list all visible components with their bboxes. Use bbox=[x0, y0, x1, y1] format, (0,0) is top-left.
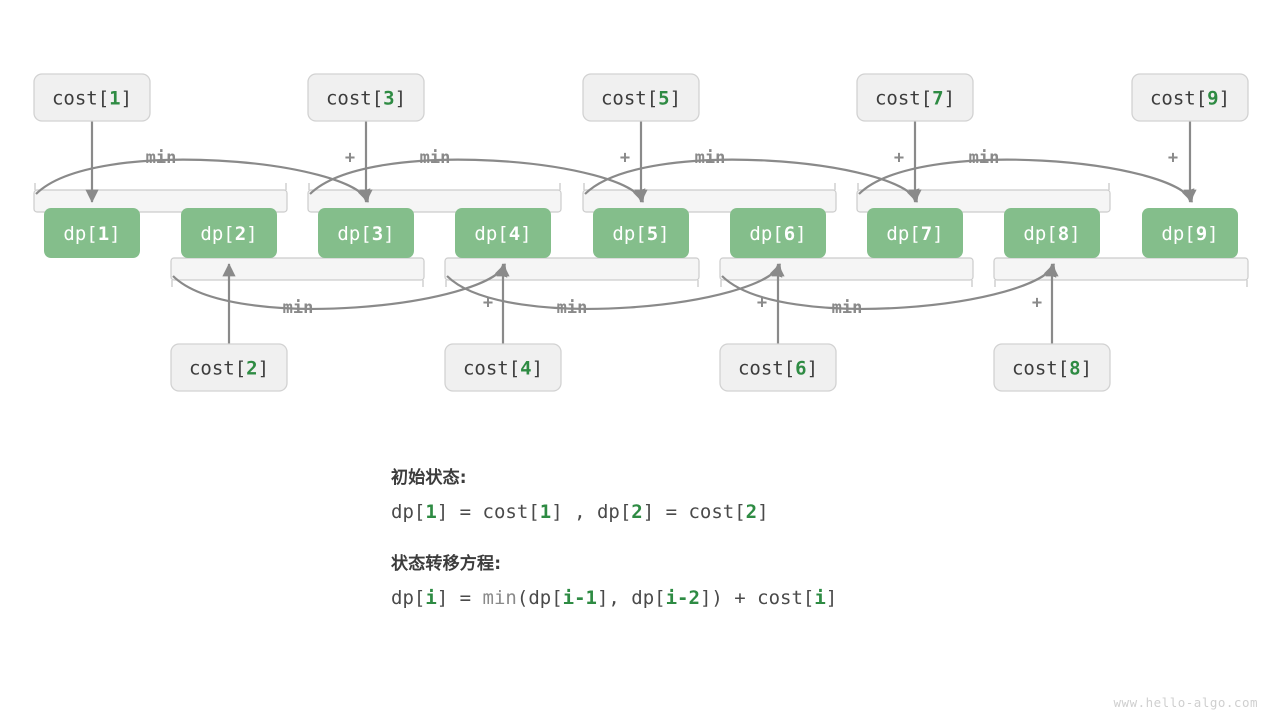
cost-box-4: cost[4] bbox=[445, 344, 561, 391]
op-label-min-top-0: min bbox=[146, 148, 177, 168]
initial-state-heading: 初始状态: bbox=[391, 463, 1091, 488]
op-label-plus-bottom-0: + bbox=[483, 293, 493, 313]
initial-state-formula: dp[1] = cost[1] , dp[2] = cost[2] bbox=[391, 501, 1091, 523]
dp-cell-6: dp[6] bbox=[730, 208, 826, 258]
cost-box-label: cost[3] bbox=[326, 88, 406, 110]
dp-cell-label: dp[8] bbox=[1023, 223, 1080, 245]
dp-cell-layer: dp[1]dp[2]dp[3]dp[4]dp[5]dp[6]dp[7]dp[8]… bbox=[44, 208, 1238, 258]
cost-box-label: cost[2] bbox=[189, 358, 269, 380]
dp-cell-2: dp[2] bbox=[181, 208, 277, 258]
bracket-top-2 bbox=[583, 183, 836, 212]
dp-cell-9: dp[9] bbox=[1142, 208, 1238, 258]
transition-heading: 状态转移方程: bbox=[391, 549, 1091, 574]
bracket-top-3 bbox=[857, 183, 1110, 212]
op-label-plus-top-0: + bbox=[345, 148, 355, 168]
watermark: www.hello-algo.com bbox=[1114, 695, 1258, 710]
dp-cell-3: dp[3] bbox=[318, 208, 414, 258]
op-label-min-top-3: min bbox=[969, 148, 1000, 168]
op-label-plus-top-1: + bbox=[620, 148, 630, 168]
dp-cell-1: dp[1] bbox=[44, 208, 140, 258]
dp-cell-label: dp[7] bbox=[886, 223, 943, 245]
bracket-top-0 bbox=[34, 183, 287, 212]
cost-box-label: cost[1] bbox=[52, 88, 132, 110]
dp-cell-label: dp[4] bbox=[474, 223, 531, 245]
cost-box-label: cost[6] bbox=[738, 358, 818, 380]
op-label-plus-top-3: + bbox=[1168, 148, 1178, 168]
dp-cell-label: dp[3] bbox=[337, 223, 394, 245]
op-label-plus-bottom-1: + bbox=[757, 293, 767, 313]
cost-box-9: cost[9] bbox=[1132, 74, 1248, 121]
cost-box-1: cost[1] bbox=[34, 74, 150, 121]
dp-cell-label: dp[2] bbox=[200, 223, 257, 245]
cost-box-label: cost[8] bbox=[1012, 358, 1092, 380]
op-label-plus-bottom-2: + bbox=[1032, 293, 1042, 313]
cost-box-3: cost[3] bbox=[308, 74, 424, 121]
op-label-min-bottom-1: min bbox=[557, 298, 588, 318]
dp-diagram: dp[1]dp[2]dp[3]dp[4]dp[5]dp[6]dp[7]dp[8]… bbox=[0, 0, 1280, 720]
dp-cell-8: dp[8] bbox=[1004, 208, 1100, 258]
dp-cell-label: dp[1] bbox=[63, 223, 120, 245]
bracket-top-1 bbox=[308, 183, 561, 212]
cost-box-label: cost[9] bbox=[1150, 88, 1230, 110]
op-label-min-top-1: min bbox=[420, 148, 451, 168]
cost-box-6: cost[6] bbox=[720, 344, 836, 391]
cost-box-label: cost[4] bbox=[463, 358, 543, 380]
bracket-bottom-0 bbox=[171, 258, 424, 287]
dp-cell-label: dp[6] bbox=[749, 223, 806, 245]
cost-box-7: cost[7] bbox=[857, 74, 973, 121]
cost-box-label: cost[5] bbox=[601, 88, 681, 110]
cost-box-label: cost[7] bbox=[875, 88, 955, 110]
transition-formula: dp[i] = min(dp[i-1], dp[i-2]) + cost[i] bbox=[391, 587, 1091, 609]
dp-cell-4: dp[4] bbox=[455, 208, 551, 258]
formula-block: 初始状态: dp[1] = cost[1] , dp[2] = cost[2] … bbox=[391, 463, 1091, 609]
op-label-min-top-2: min bbox=[695, 148, 726, 168]
dp-cell-7: dp[7] bbox=[867, 208, 963, 258]
dp-cell-5: dp[5] bbox=[593, 208, 689, 258]
op-label-min-bottom-0: min bbox=[283, 298, 314, 318]
op-label-min-bottom-2: min bbox=[832, 298, 863, 318]
dp-cell-label: dp[9] bbox=[1161, 223, 1218, 245]
cost-box-8: cost[8] bbox=[994, 344, 1110, 391]
op-label-plus-top-2: + bbox=[894, 148, 904, 168]
dp-cell-label: dp[5] bbox=[612, 223, 669, 245]
cost-box-5: cost[5] bbox=[583, 74, 699, 121]
cost-box-2: cost[2] bbox=[171, 344, 287, 391]
